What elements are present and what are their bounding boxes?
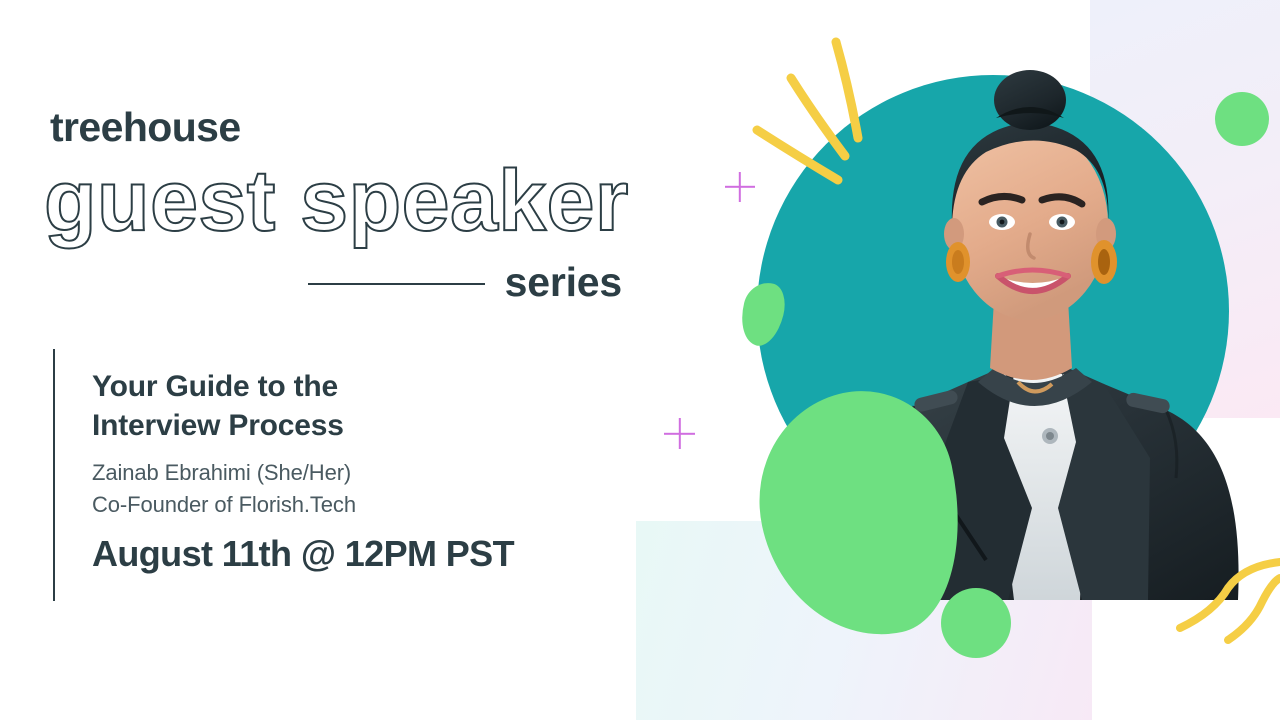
talk-title-line-2: Interview Process xyxy=(92,407,612,446)
event-details: Your Guide to the Interview Process Zain… xyxy=(92,368,612,574)
plus-mark-icon-top xyxy=(725,172,755,202)
details-vertical-rule xyxy=(53,349,55,601)
series-row: series xyxy=(308,258,622,306)
headline-outline-text: guest speaker xyxy=(44,158,629,244)
plus-mark-icon-bottom xyxy=(664,418,695,449)
treehouse-wordmark: treehouse xyxy=(50,107,241,148)
promo-slide: treehouse guest speaker series Your Guid… xyxy=(0,0,1280,720)
series-divider-rule xyxy=(308,283,485,285)
green-circle-bottom-decor xyxy=(941,588,1011,658)
speaker-name: Zainab Ebrahimi (She/Her) xyxy=(92,457,612,488)
talk-title-line-1: Your Guide to the xyxy=(92,368,612,407)
speaker-role: Co-Founder of Florish.Tech xyxy=(92,489,612,520)
series-label: series xyxy=(505,262,622,303)
event-datetime: August 11th @ 12PM PST xyxy=(92,533,612,574)
